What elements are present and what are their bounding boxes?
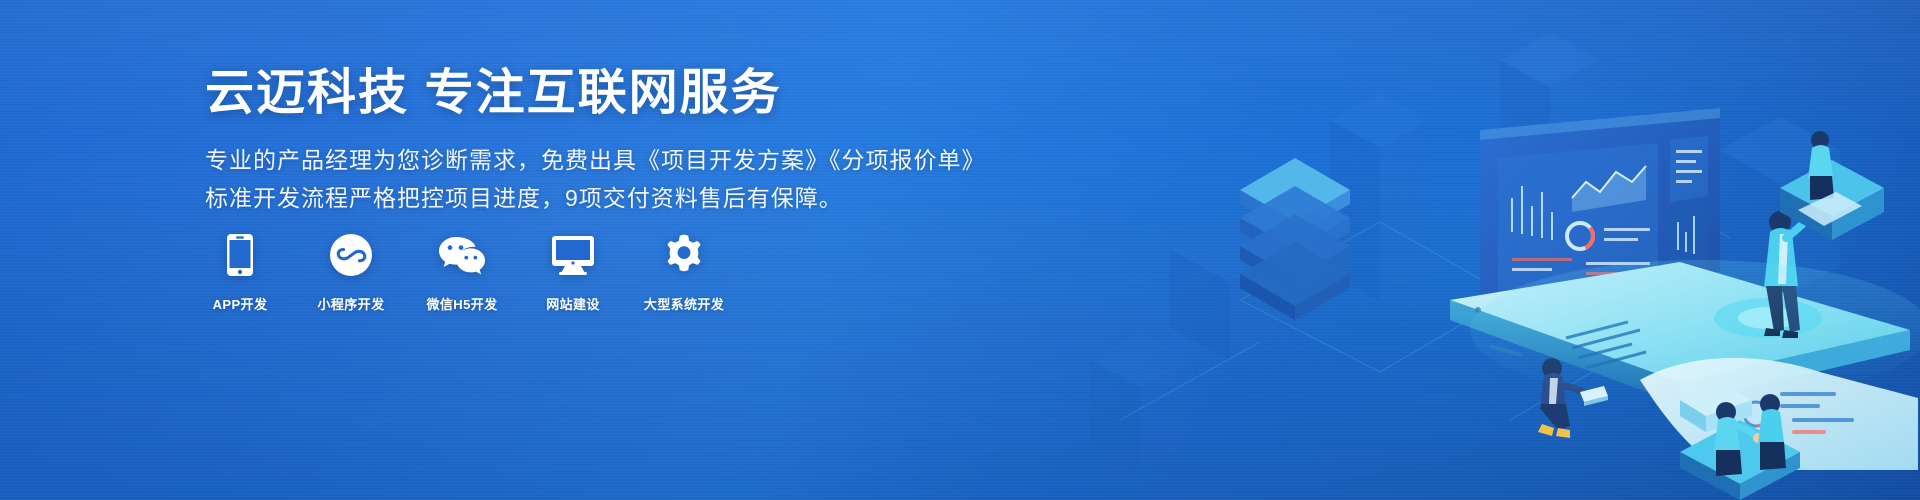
service-item-mini-program[interactable]: 小程序开发 (316, 232, 386, 313)
monitor-icon (551, 232, 595, 278)
hero-banner: 云迈科技 专注互联网服务 专业的产品经理为您诊断需求，免费出具《项目开发方案》《… (0, 0, 1920, 500)
service-label: 小程序开发 (317, 294, 384, 313)
service-item-large-system[interactable]: 大型系统开发 (649, 232, 719, 313)
service-item-wechat-h5[interactable]: 微信H5开发 (427, 232, 497, 313)
service-label: 网站建设 (546, 294, 600, 313)
hero-copy: 云迈科技 专注互联网服务 专业的产品经理为您诊断需求，免费出具《项目开发方案》《… (205, 66, 965, 217)
service-list: APP开发 小程序开发 (205, 232, 719, 313)
hero-subtitle: 专业的产品经理为您诊断需求，免费出具《项目开发方案》《分项报价单》 标准开发流程… (205, 121, 965, 217)
gear-icon (663, 232, 705, 278)
subtitle-line-2: 标准开发流程严格把控项目进度，9项交付资料售后有保障。 (205, 179, 965, 217)
stacked-blocks (1240, 158, 1350, 320)
subtitle-line-1: 专业的产品经理为您诊断需求，免费出具《项目开发方案》《分项报价单》 (205, 141, 965, 179)
mini-program-icon (330, 232, 372, 278)
service-item-website[interactable]: 网站建设 (538, 232, 608, 313)
service-label: 大型系统开发 (644, 294, 724, 313)
service-item-app[interactable]: APP开发 (205, 232, 275, 313)
page-title: 云迈科技 专注互联网服务 (205, 66, 965, 121)
mobile-phone-icon (227, 232, 253, 278)
service-label: APP开发 (213, 294, 268, 313)
isometric-illustration (1080, 0, 1920, 500)
wechat-icon (438, 232, 486, 278)
service-label: 微信H5开发 (426, 294, 497, 313)
